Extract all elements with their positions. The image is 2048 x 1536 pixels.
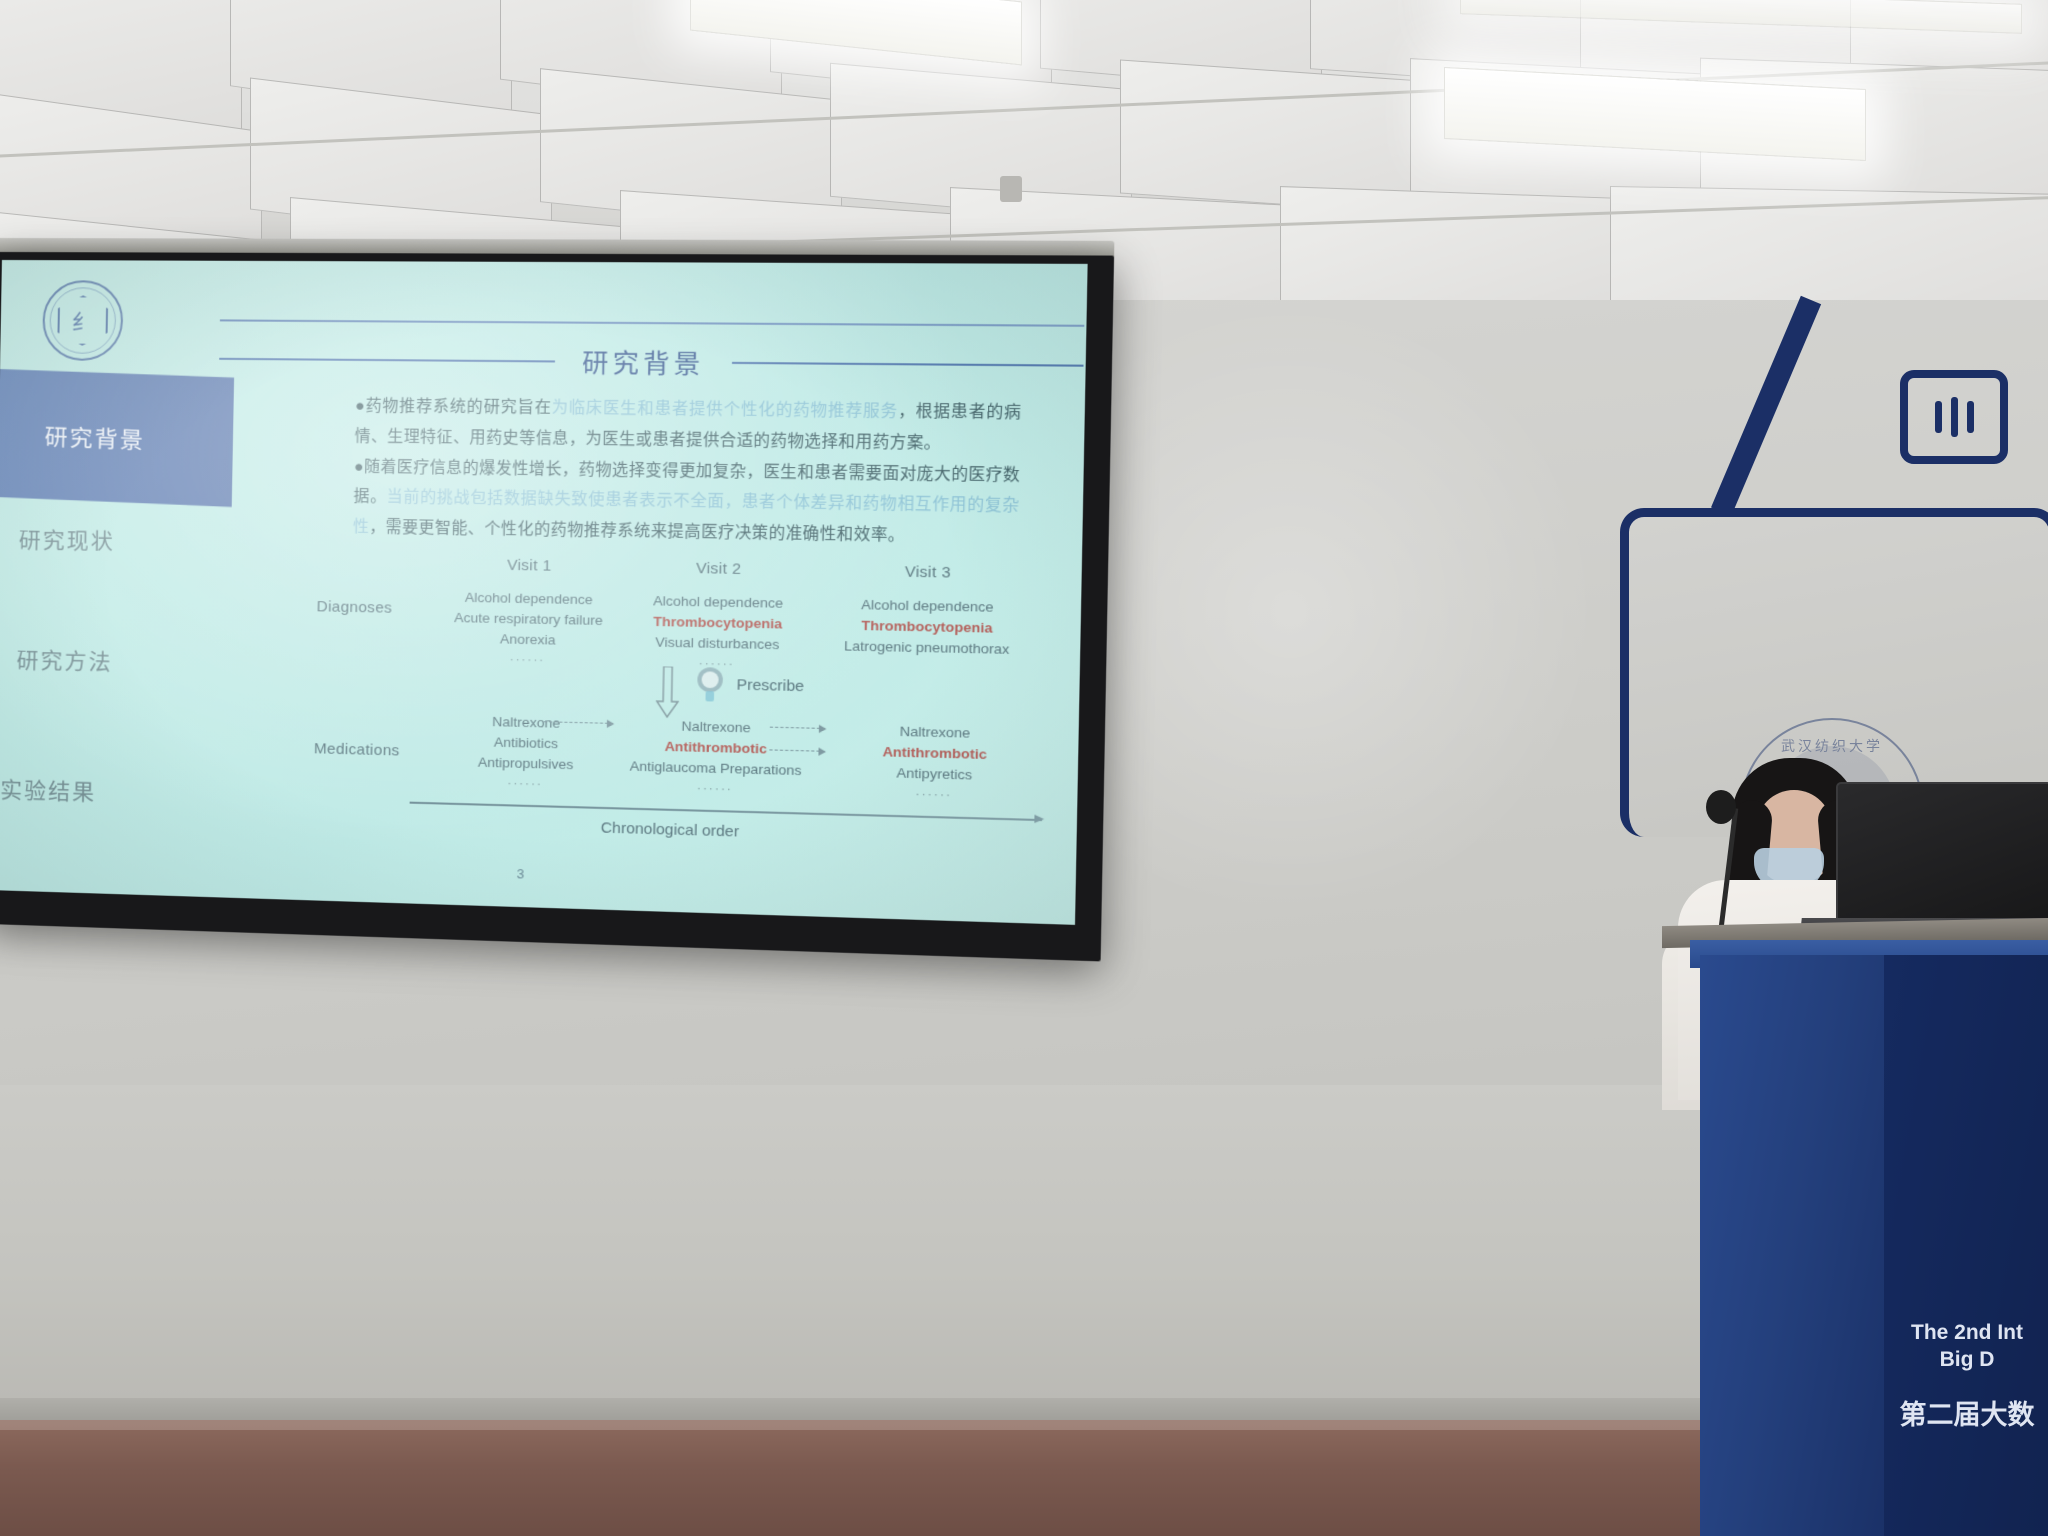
bullet1-text-dim: 为临床医生和患者提供个性化的药物推荐服务 — [552, 399, 899, 420]
visit-3-diagnoses-column: Visit 3 Alcohol dependence Thrombocytope… — [805, 562, 1050, 661]
visit-header: Visit 3 — [807, 562, 1050, 584]
visit-header: Visit 1 — [430, 555, 629, 576]
chronological-axis — [410, 802, 1042, 821]
medication-item: Antipropulsives — [427, 751, 626, 777]
wall-emblem-label: 武汉纺织大学 — [1742, 736, 1922, 756]
microphone-icon — [1706, 790, 1736, 824]
header-line-right — [732, 362, 1084, 366]
podium-front-panel — [1884, 955, 2048, 1536]
sidebar-item-experiment-results[interactable]: 实验结果 — [0, 772, 97, 807]
conference-banner: The 2nd Int Big D 第二届大数 — [1872, 1320, 2048, 1432]
slide-body-text: ●药物推荐系统的研究旨在为临床医生和患者提供个性化的药物推荐服务，根据患者的病情… — [353, 391, 1022, 553]
banner-line-2: Big D — [1872, 1347, 2048, 1374]
sidebar-item-label: 研究现状 — [19, 527, 116, 554]
lightbulb-icon — [694, 665, 726, 703]
sidebar-item-research-method[interactable]: 研究方法 — [16, 643, 113, 677]
sidebar-item-research-background[interactable]: 研究背景 — [0, 369, 234, 507]
ellipsis: ······ — [826, 786, 1042, 804]
conference-room-photo: 武汉纺织大学 纟 研究背景 研究现状 研究方法 实验结果 — [0, 0, 2048, 1536]
sidebar-item-research-status[interactable]: 研究现状 — [18, 522, 115, 556]
bullet2-text-b: ，需要更智能、个性化的药物推荐系统来提高医疗决策的准确性和效率。 — [369, 519, 905, 545]
bullet1-text-a: ●药物推荐系统的研究旨在 — [355, 397, 552, 416]
ceiling-sprinkler — [1000, 176, 1022, 202]
header-line-left — [219, 358, 555, 362]
sidebar-item-label: 研究方法 — [16, 648, 113, 675]
medication-item: Antiglaucoma Preparations — [602, 755, 830, 781]
ellipsis: ······ — [429, 652, 627, 668]
university-logo: 纟 — [42, 280, 124, 361]
visit-2-diagnoses-column: Visit 2 Alcohol dependence Thrombocytope… — [616, 558, 820, 672]
row-label-diagnoses: Diagnoses — [316, 598, 392, 617]
diagnosis-item: Latrogenic pneumothorax — [805, 635, 1048, 661]
ellipsis: ······ — [426, 775, 624, 793]
slide-header: 研究背景 — [219, 342, 1084, 384]
projection-screen: 纟 研究背景 研究现状 研究方法 实验结果 研究背景 — [0, 252, 1114, 961]
presentation-slide: 纟 研究背景 研究现状 研究方法 实验结果 研究背景 — [0, 260, 1088, 925]
banner-line-cn: 第二届大数 — [1872, 1398, 2048, 1433]
sidebar-item-label: 研究背景 — [44, 418, 145, 456]
ellipsis: ······ — [601, 780, 829, 798]
bars-icon — [1900, 370, 2008, 464]
prescribe-label: Prescribe — [736, 676, 804, 695]
diagnosis-item: Anorexia — [429, 628, 628, 652]
diagnosis-item: Visual disturbances — [617, 631, 819, 656]
sidebar-item-label: 实验结果 — [0, 777, 96, 805]
patient-visit-diagram: Diagnoses Medications Visit 1 Alcohol de… — [312, 553, 1058, 880]
page-title: 研究背景 — [582, 343, 705, 381]
visit-header: Visit 2 — [618, 558, 820, 579]
medication-item: Antipyretics — [826, 761, 1043, 787]
chronological-axis-label: Chronological order — [601, 819, 740, 840]
down-arrow-icon — [655, 666, 679, 718]
banner-line-1: The 2nd Int — [1872, 1320, 2048, 1347]
visit-1-diagnoses-column: Visit 1 Alcohol dependence Acute respira… — [429, 555, 629, 668]
diagnosis-item: Acute respiratory failure — [429, 607, 628, 631]
visit-3-medications-column: Naltrexone Antithrombotic Antipyretics ·… — [826, 720, 1044, 805]
row-label-medications: Medications — [314, 740, 400, 759]
slide-top-rule — [220, 319, 1084, 326]
